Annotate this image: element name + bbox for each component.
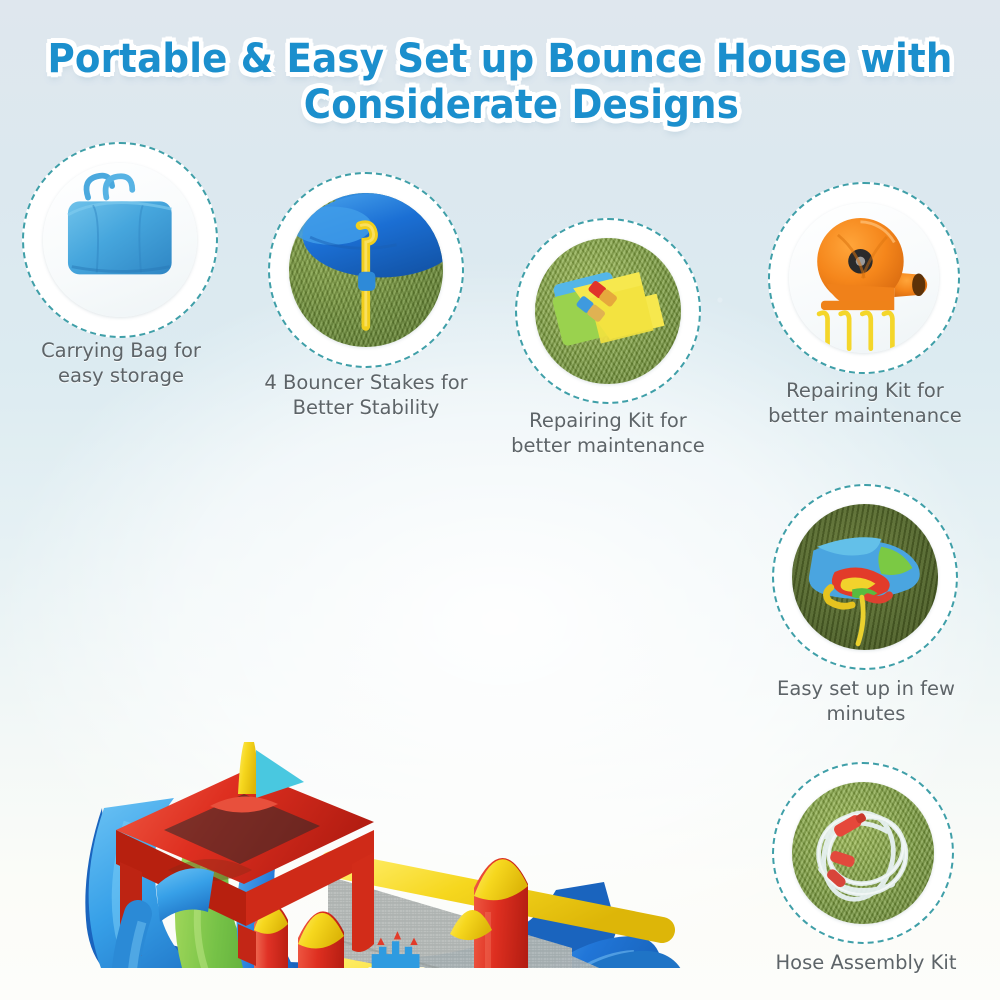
bouncer-stakes-circle bbox=[268, 172, 464, 368]
callout-air-blower: Repairing Kit for better maintenance bbox=[768, 182, 960, 374]
repair-kit-circle bbox=[515, 218, 701, 404]
easy-setup-circle bbox=[772, 484, 958, 670]
carrying-bag-circle bbox=[22, 142, 218, 338]
repair-patch-icon bbox=[535, 238, 681, 384]
hose-coil-icon bbox=[792, 782, 934, 924]
hose-assembly-circle bbox=[772, 762, 954, 944]
callout-carrying-bag: Carrying Bag for easy storage bbox=[22, 142, 218, 338]
tower-right bbox=[474, 858, 528, 968]
callout-repair-kit-patches: Repairing Kit for better maintenance bbox=[515, 218, 701, 404]
carrying-bag-icon bbox=[43, 163, 197, 317]
flag-pole bbox=[238, 742, 258, 794]
air-blower-icon bbox=[789, 203, 939, 353]
product-image-bounce-house bbox=[42, 378, 682, 968]
title-line-2: Considerate Designs bbox=[35, 82, 965, 128]
air-blower-caption: Repairing Kit for better maintenance bbox=[750, 378, 980, 428]
title-line-1: Portable & Easy Set up Bounce House with bbox=[35, 36, 965, 82]
deflated-bouncer-icon bbox=[792, 504, 938, 650]
frame-leg-right bbox=[352, 852, 374, 952]
ground-stake-icon bbox=[289, 193, 443, 347]
air-blower-circle bbox=[768, 182, 960, 374]
easy-setup-caption: Easy set up in few minutes bbox=[750, 676, 982, 726]
callout-easy-setup: Easy set up in few minutes bbox=[772, 484, 958, 670]
callout-bouncer-stakes: 4 Bouncer Stakes for Better Stability bbox=[268, 172, 464, 368]
hose-assembly-caption: Hose Assembly Kit bbox=[752, 950, 980, 975]
page-title: Portable & Easy Set up Bounce House with… bbox=[35, 36, 965, 128]
infographic-page: Portable & Easy Set up Bounce House with… bbox=[0, 0, 1000, 1000]
callout-hose-assembly: Hose Assembly Kit bbox=[772, 762, 954, 944]
